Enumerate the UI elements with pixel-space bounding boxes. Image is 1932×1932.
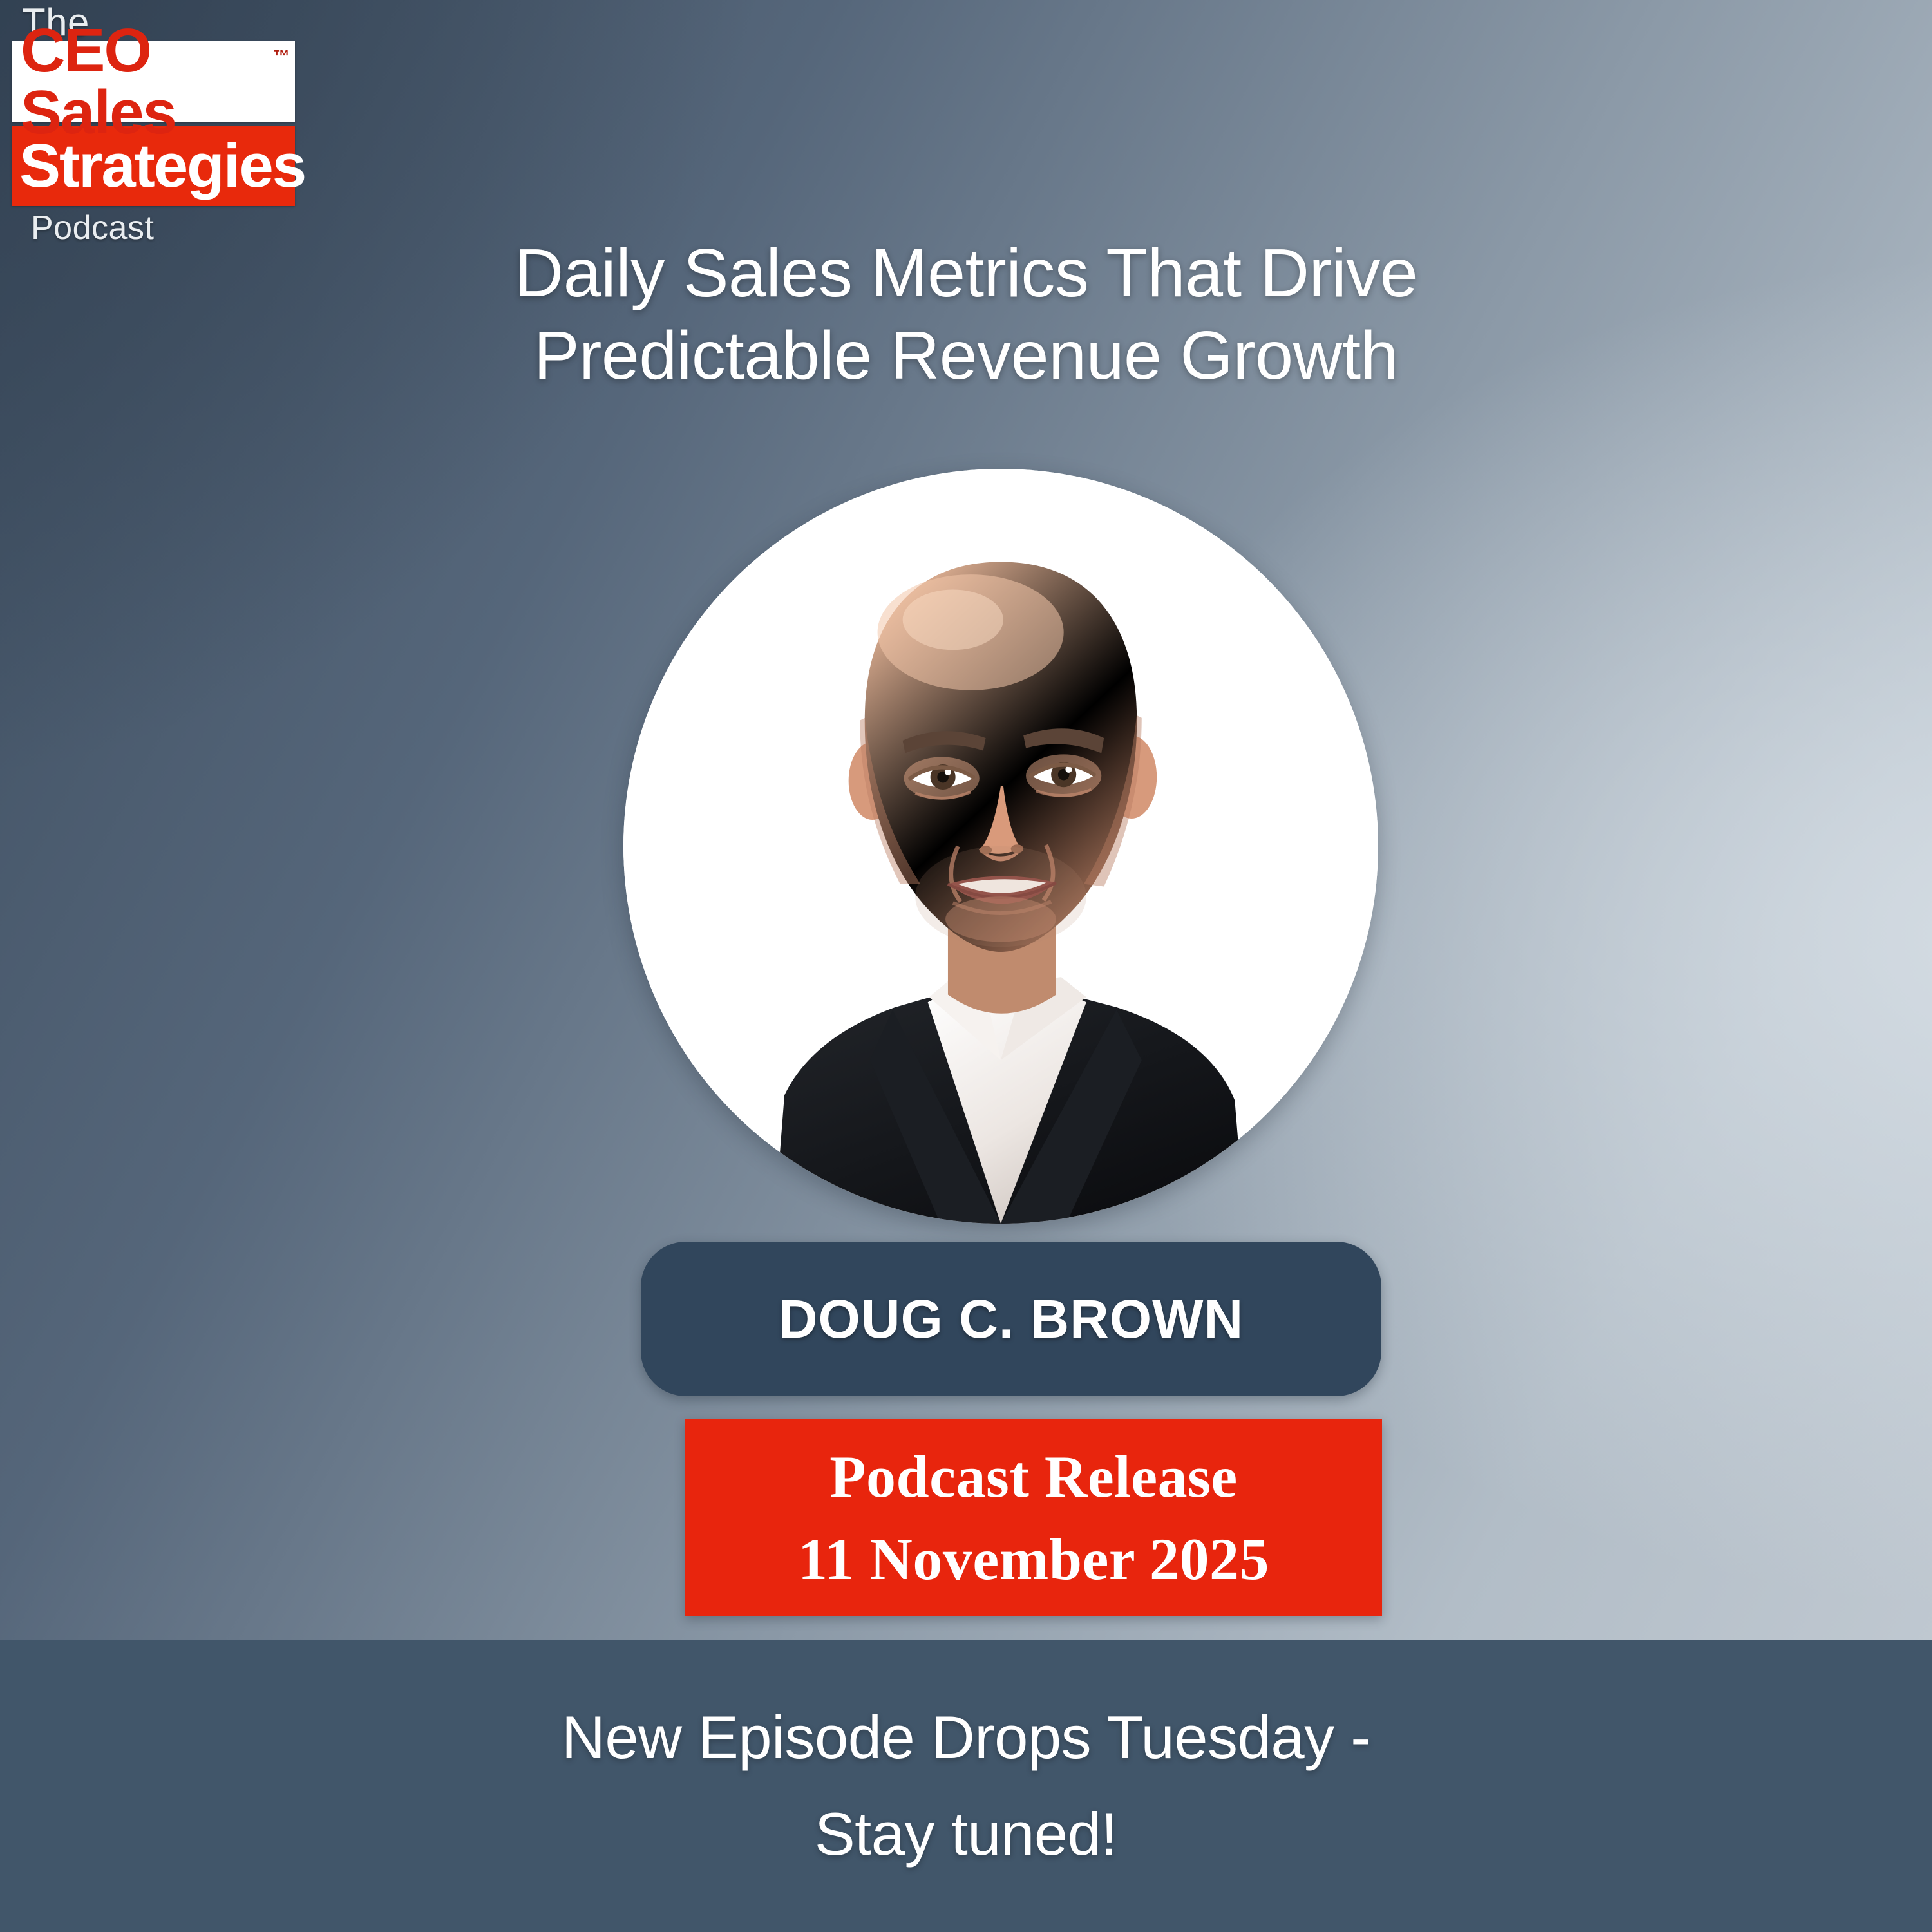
- release-date-banner: Podcast Release 11 November 2025: [685, 1419, 1382, 1616]
- guest-name-badge: DOUG C. BROWN: [641, 1242, 1381, 1396]
- logo-ceo-sales-text: CEO Sales: [21, 20, 295, 144]
- episode-title: Daily Sales Metrics That Drive Predictab…: [0, 232, 1932, 397]
- logo-ceo-sales-box: CEO Sales ™: [12, 41, 295, 122]
- podcast-promo-poster: The CEO Sales ™ Strategies Podcast Daily…: [0, 0, 1932, 1932]
- episode-title-line-1: Daily Sales Metrics That Drive: [0, 232, 1932, 314]
- trademark-icon: ™: [273, 48, 290, 64]
- footer-band: New Episode Drops Tuesday - Stay tuned!: [0, 1640, 1932, 1932]
- footer-line-2: Stay tuned!: [815, 1786, 1117, 1882]
- footer-line-1: New Episode Drops Tuesday -: [562, 1689, 1370, 1786]
- guest-portrait-avatar: [623, 469, 1378, 1224]
- brand-logo: The CEO Sales ™ Strategies Podcast: [12, 4, 314, 246]
- guest-name-label: DOUG C. BROWN: [779, 1288, 1244, 1350]
- guest-portrait-illustration: [623, 469, 1378, 1224]
- release-date: 11 November 2025: [798, 1518, 1269, 1600]
- episode-title-line-2: Predictable Revenue Growth: [0, 314, 1932, 397]
- release-label: Podcast Release: [829, 1435, 1237, 1518]
